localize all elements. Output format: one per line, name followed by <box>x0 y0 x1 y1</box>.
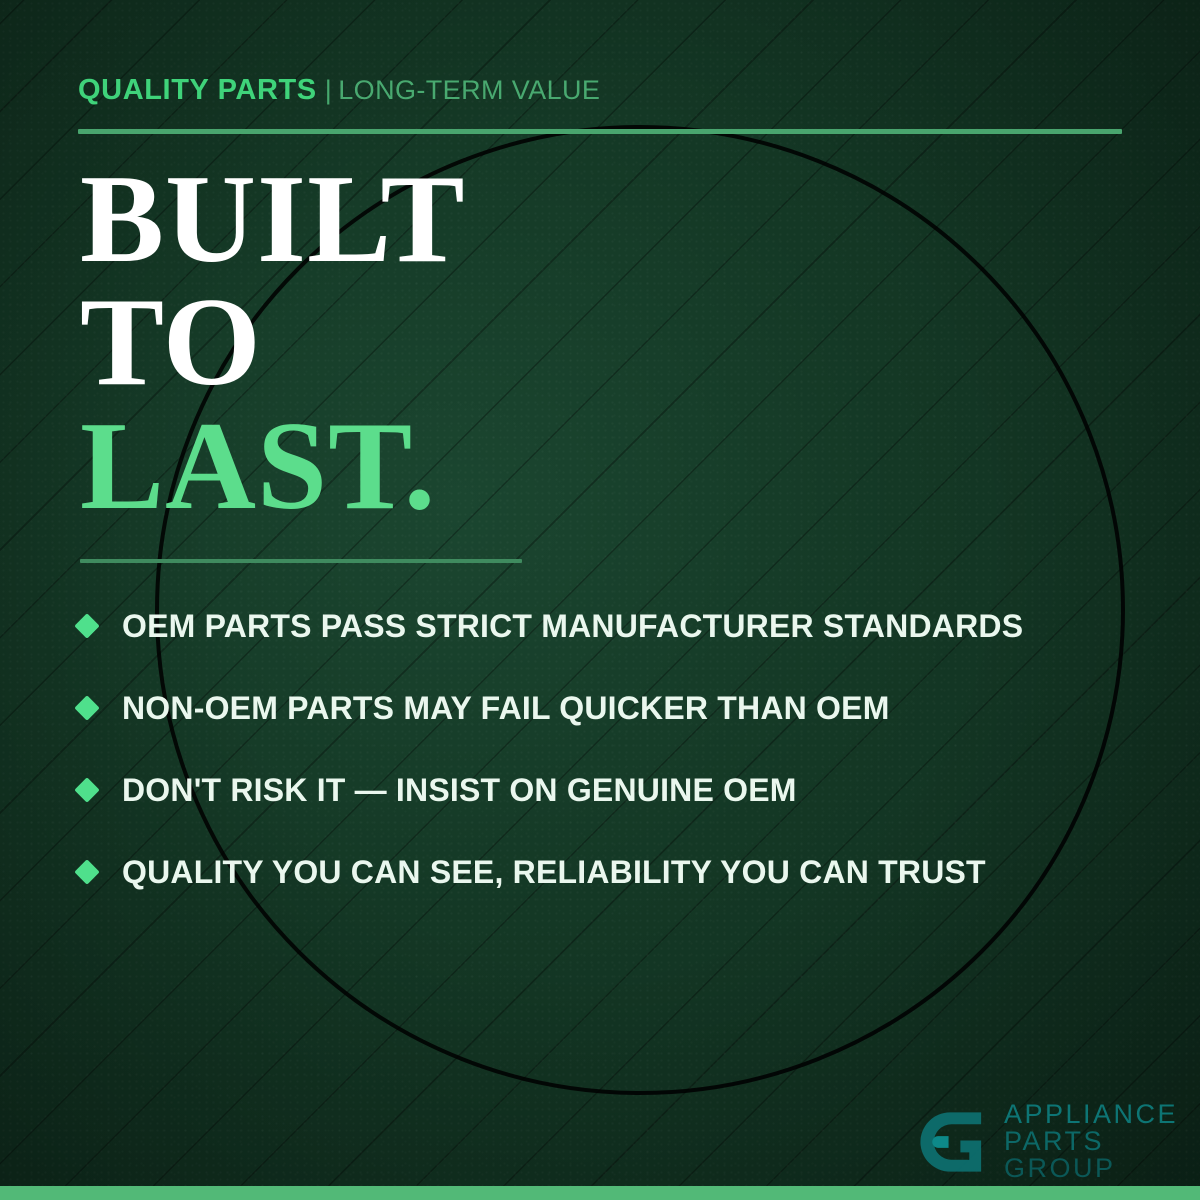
list-item: OEM PARTS PASS STRICT MANUFACTURER STAND… <box>78 585 1168 667</box>
eyebrow-main-label: QUALITY PARTS <box>78 74 317 106</box>
poster-content: QUALITY PARTS|LONG-TERM VALUE BUILT TO L… <box>0 0 1200 1200</box>
poster-canvas: QUALITY PARTS|LONG-TERM VALUE BUILT TO L… <box>0 0 1200 1200</box>
diamond-bullet-icon <box>74 613 99 638</box>
list-item-label: OEM PARTS PASS STRICT MANUFACTURER STAND… <box>122 608 1023 645</box>
list-item: QUALITY YOU CAN SEE, RELIABILITY YOU CAN… <box>78 831 1168 913</box>
list-item: NON-OEM PARTS MAY FAIL QUICKER THAN OEM <box>78 667 1168 749</box>
bullet-list: OEM PARTS PASS STRICT MANUFACTURER STAND… <box>78 585 1168 913</box>
brand-logo-line-2: PARTS <box>1004 1128 1178 1155</box>
headline-line-1: BUILT <box>80 158 466 281</box>
g-monogram-icon <box>916 1105 990 1179</box>
list-item: DON'T RISK IT — INSIST ON GENUINE OEM <box>78 749 1168 831</box>
page-title: BUILT TO LAST. <box>80 158 466 528</box>
diamond-bullet-icon <box>74 859 99 884</box>
list-item-label: DON'T RISK IT — INSIST ON GENUINE OEM <box>122 772 797 809</box>
headline-line-2: TO <box>80 281 466 404</box>
headline-divider-rule <box>80 559 522 563</box>
list-item-label: NON-OEM PARTS MAY FAIL QUICKER THAN OEM <box>122 690 890 727</box>
brand-logo-line-3: GROUP <box>1004 1155 1178 1182</box>
eyebrow-separator: | <box>325 75 333 105</box>
brand-logo-wordmark: APPLIANCE PARTS GROUP <box>1004 1101 1178 1182</box>
brand-logo: APPLIANCE PARTS GROUP <box>916 1101 1178 1182</box>
list-item-label: QUALITY YOU CAN SEE, RELIABILITY YOU CAN… <box>122 854 986 891</box>
eyebrow-sub-label: LONG-TERM VALUE <box>338 75 600 105</box>
diamond-bullet-icon <box>74 695 99 720</box>
header-divider-rule <box>78 129 1122 134</box>
diamond-bullet-icon <box>74 777 99 802</box>
brand-logo-line-1: APPLIANCE <box>1004 1101 1178 1128</box>
bottom-accent-bar <box>0 1186 1200 1200</box>
eyebrow: QUALITY PARTS|LONG-TERM VALUE <box>78 74 600 107</box>
headline-line-3: LAST. <box>80 405 466 528</box>
